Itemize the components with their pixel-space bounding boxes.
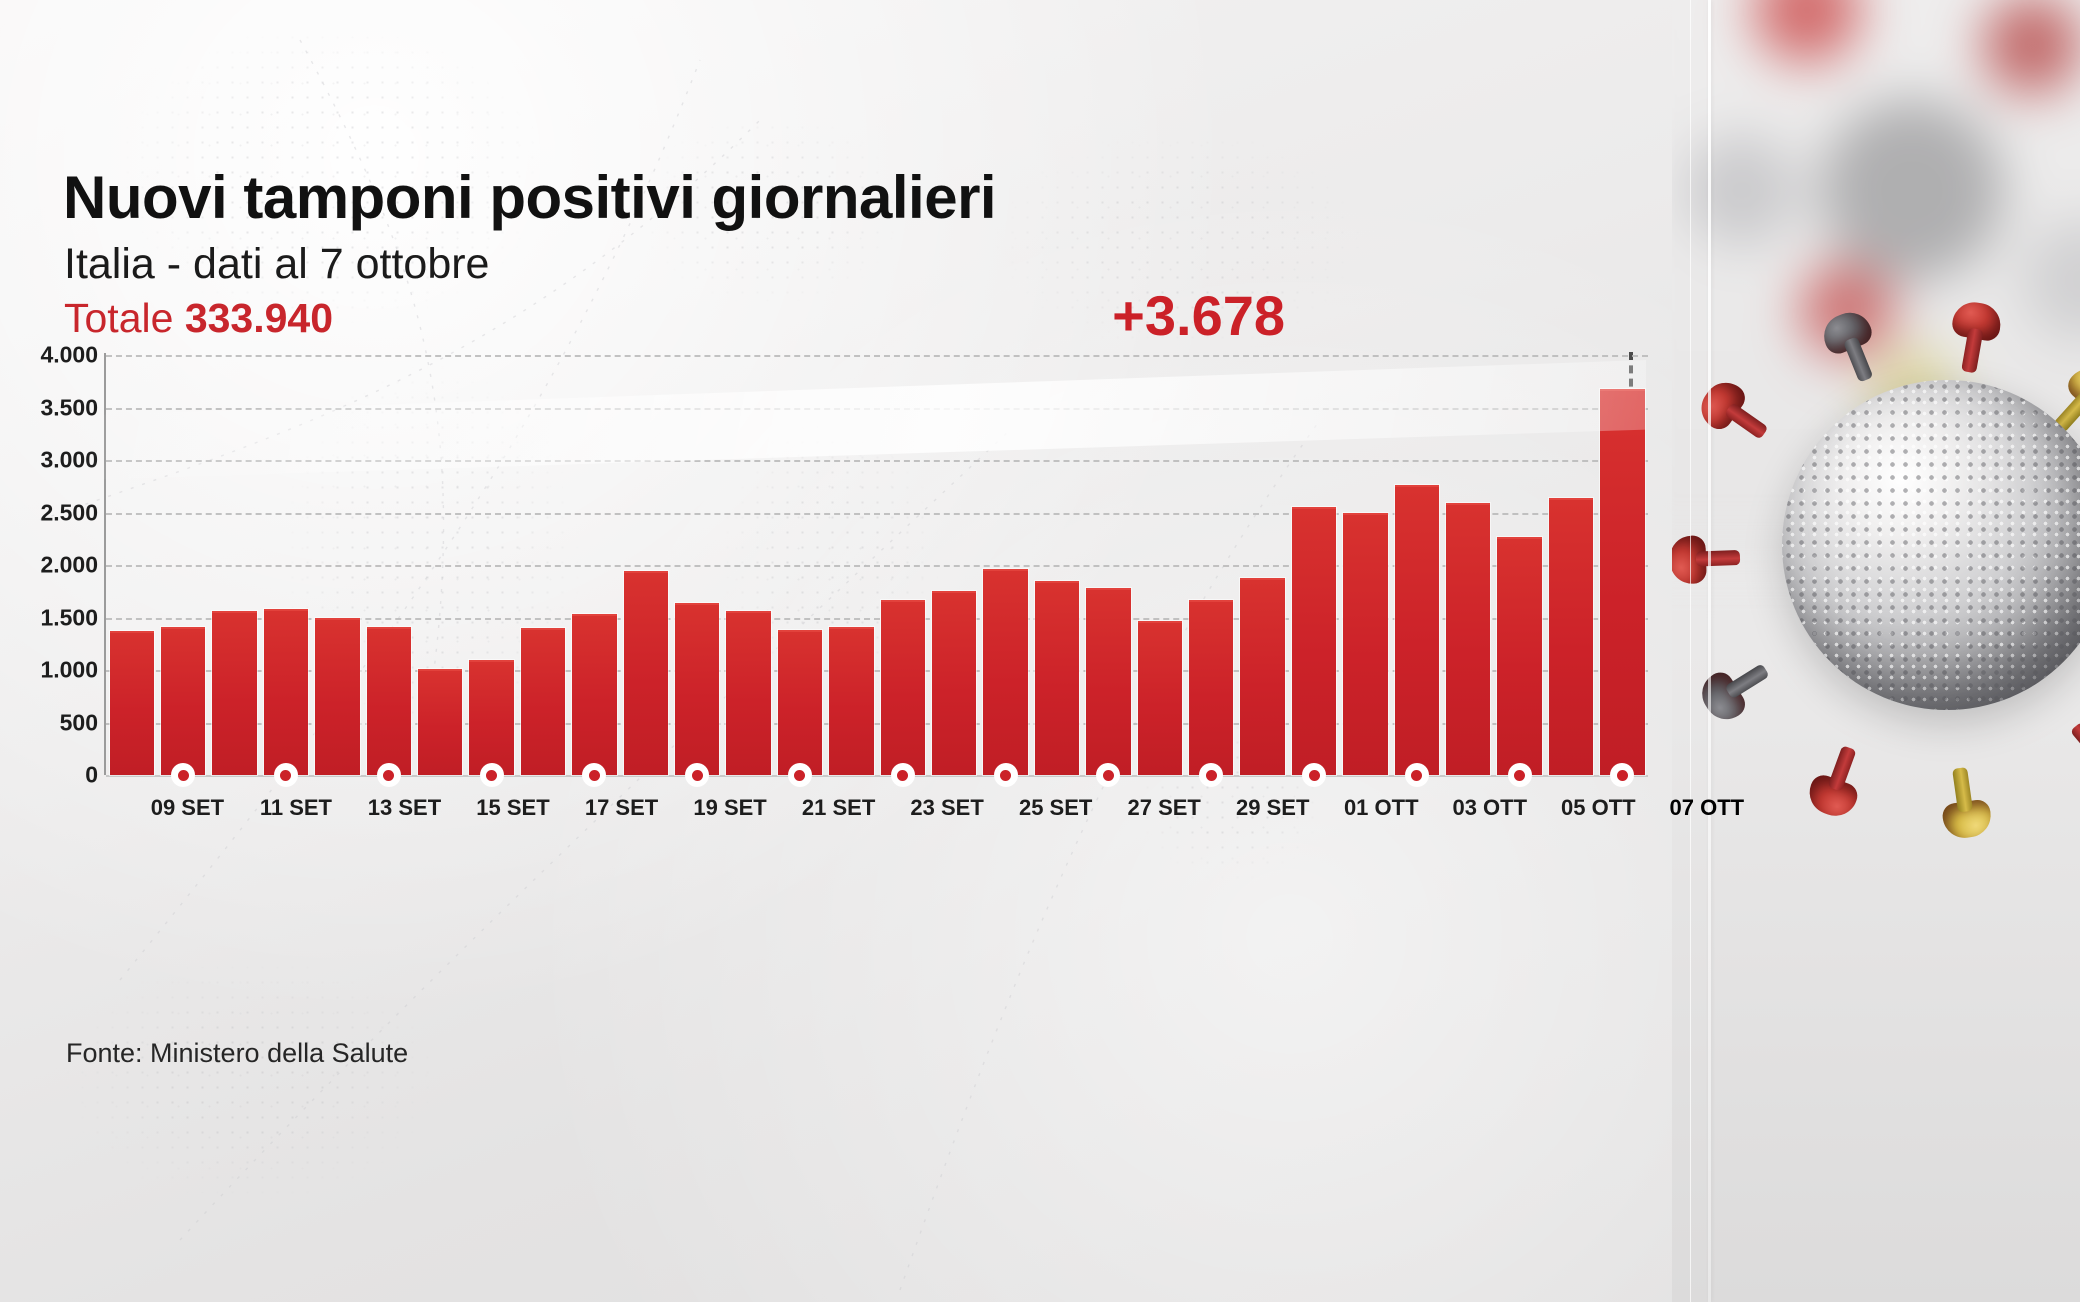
x-tick-dot — [1096, 763, 1120, 787]
x-tick-dot — [582, 763, 606, 787]
bar-slot — [569, 355, 620, 775]
bar-slot — [1494, 355, 1545, 775]
virus-core — [1782, 380, 2080, 710]
total-label: Totale — [64, 295, 173, 341]
x-label-slot: 13 SET — [377, 795, 431, 835]
x-tick-label: 19 SET — [693, 795, 766, 821]
y-axis-labels: 4.0003.5003.0002.5002.0001.5001.0005000 — [20, 355, 98, 775]
x-label-slot: 11 SET — [269, 795, 323, 835]
bar-slot — [260, 355, 311, 775]
total-line: Totale 333.940 — [64, 295, 333, 342]
virus-particle — [1722, 300, 2080, 920]
bar[interactable] — [315, 618, 359, 776]
bar[interactable] — [1600, 389, 1644, 775]
bar[interactable] — [418, 669, 462, 775]
plot-area — [106, 355, 1648, 775]
x-label-slot: 23 SET — [920, 795, 974, 835]
x-tick-dot — [171, 763, 195, 787]
y-tick-label: 4.000 — [40, 342, 98, 369]
bar-slot — [723, 355, 774, 775]
bar[interactable] — [1240, 578, 1284, 775]
x-tick-label: 15 SET — [476, 795, 549, 821]
y-tick-label: 1.500 — [40, 604, 98, 631]
bar-slot — [106, 355, 157, 775]
bar-slot — [1545, 355, 1596, 775]
x-tick-label: 29 SET — [1236, 795, 1309, 821]
x-tick-label: 09 SET — [151, 795, 224, 821]
bar-slot — [414, 355, 465, 775]
bar[interactable] — [161, 627, 205, 775]
x-tick-dot — [1405, 763, 1429, 787]
x-tick-dot — [1610, 763, 1634, 787]
bar-slot — [774, 355, 825, 775]
x-tick-label: 11 SET — [260, 795, 332, 821]
x-label-slot: 01 OTT — [1354, 795, 1408, 835]
x-tick-dot — [685, 763, 709, 787]
x-tick-dot — [1199, 763, 1223, 787]
bar-slot — [877, 355, 928, 775]
bar[interactable] — [1446, 503, 1490, 775]
bar-slot — [312, 355, 363, 775]
bar[interactable] — [212, 611, 256, 775]
bar[interactable] — [1189, 600, 1233, 775]
x-label-slot: 21 SET — [811, 795, 865, 835]
bar[interactable] — [1138, 621, 1182, 775]
y-tick-label: 1.000 — [40, 657, 98, 684]
x-tick-dot — [1302, 763, 1326, 787]
y-tick-label: 3.000 — [40, 447, 98, 474]
bar-slot — [620, 355, 671, 775]
bar-slot — [929, 355, 980, 775]
bar[interactable] — [983, 569, 1027, 775]
x-tick-dot — [1508, 763, 1532, 787]
bar-slot — [1031, 355, 1082, 775]
x-label-slot: 27 SET — [1137, 795, 1191, 835]
bar-slot — [1237, 355, 1288, 775]
bar[interactable] — [1549, 498, 1593, 775]
x-label-slot: 05 OTT — [1571, 795, 1625, 835]
bar[interactable] — [1035, 581, 1079, 775]
page-title: Nuovi tamponi positivi giornalieri — [63, 163, 996, 232]
bar-chart: 4.0003.5003.0002.5002.0001.5001.0005000 — [20, 355, 1660, 775]
bar[interactable] — [264, 609, 308, 775]
bar-slot — [826, 355, 877, 775]
bar-slot — [1134, 355, 1185, 775]
x-tick-label: 07 OTT — [1670, 795, 1745, 821]
bar-slot — [1391, 355, 1442, 775]
bar-slot — [980, 355, 1031, 775]
bar-slot — [1083, 355, 1134, 775]
x-tick-label: 13 SET — [368, 795, 441, 821]
x-tick-dot — [274, 763, 298, 787]
x-tick-label: 23 SET — [910, 795, 983, 821]
bar[interactable] — [881, 600, 925, 775]
bar[interactable] — [726, 611, 770, 775]
bar[interactable] — [624, 571, 668, 775]
x-tick-label: 25 SET — [1019, 795, 1092, 821]
bar-slot — [517, 355, 568, 775]
bar-slot — [209, 355, 260, 775]
bar[interactable] — [521, 628, 565, 775]
bar[interactable] — [110, 631, 154, 775]
x-label-slot: 25 SET — [1029, 795, 1083, 835]
y-tick-label: 3.500 — [40, 394, 98, 421]
x-tick-dot — [480, 763, 504, 787]
x-label-slot: 29 SET — [1246, 795, 1300, 835]
x-tick-label: 03 OTT — [1452, 795, 1527, 821]
bar[interactable] — [367, 627, 411, 775]
x-axis-labels: 09 SET11 SET13 SET15 SET17 SET19 SET21 S… — [106, 795, 1734, 835]
y-tick-label: 2.500 — [40, 499, 98, 526]
bar-series — [106, 355, 1648, 775]
x-label-slot: 19 SET — [703, 795, 757, 835]
x-tick-label: 21 SET — [802, 795, 875, 821]
x-label-slot: 07 OTT — [1680, 795, 1734, 835]
y-tick-label: 500 — [60, 709, 98, 736]
bar[interactable] — [675, 603, 719, 775]
y-tick-label: 0 — [85, 762, 98, 789]
bar[interactable] — [572, 614, 616, 775]
source-note: Fonte: Ministero della Salute — [66, 1038, 408, 1069]
latest-value-callout: +3.678 — [1112, 283, 1285, 348]
x-label-slot: 09 SET — [160, 795, 214, 835]
bar-slot — [1288, 355, 1339, 775]
total-value: 333.940 — [185, 295, 333, 341]
x-tick-label: 01 OTT — [1344, 795, 1419, 821]
bar-slot — [1340, 355, 1391, 775]
x-label-slot: 03 OTT — [1463, 795, 1517, 835]
panel-divider-line-secondary — [1690, 0, 1691, 1302]
x-tick-label: 17 SET — [585, 795, 658, 821]
bar-slot — [363, 355, 414, 775]
x-tick-label: 27 SET — [1127, 795, 1200, 821]
bar-slot — [671, 355, 722, 775]
x-tick-dot — [891, 763, 915, 787]
bar-slot — [1597, 355, 1648, 775]
bar-slot — [1186, 355, 1237, 775]
panel-divider-line — [1708, 0, 1711, 1302]
bar[interactable] — [829, 627, 873, 775]
page-subtitle: Italia - dati al 7 ottobre — [64, 240, 489, 289]
bar-slot — [1443, 355, 1494, 775]
x-tick-label: 05 OTT — [1561, 795, 1636, 821]
bar[interactable] — [932, 591, 976, 775]
y-tick-label: 2.000 — [40, 552, 98, 579]
x-tick-dot — [788, 763, 812, 787]
bar-slot — [157, 355, 208, 775]
x-label-slot: 17 SET — [594, 795, 648, 835]
bar[interactable] — [1497, 537, 1541, 775]
coronavirus-illustration-panel — [1672, 0, 2080, 1302]
bar[interactable] — [469, 660, 513, 776]
bar-slot — [466, 355, 517, 775]
x-tick-dot — [994, 763, 1018, 787]
bar[interactable] — [1086, 588, 1130, 775]
bar[interactable] — [1292, 507, 1336, 775]
bar[interactable] — [1343, 513, 1387, 776]
x-label-slot: 15 SET — [486, 795, 540, 835]
bar[interactable] — [1395, 485, 1439, 775]
bar[interactable] — [778, 630, 822, 775]
x-tick-dot — [377, 763, 401, 787]
